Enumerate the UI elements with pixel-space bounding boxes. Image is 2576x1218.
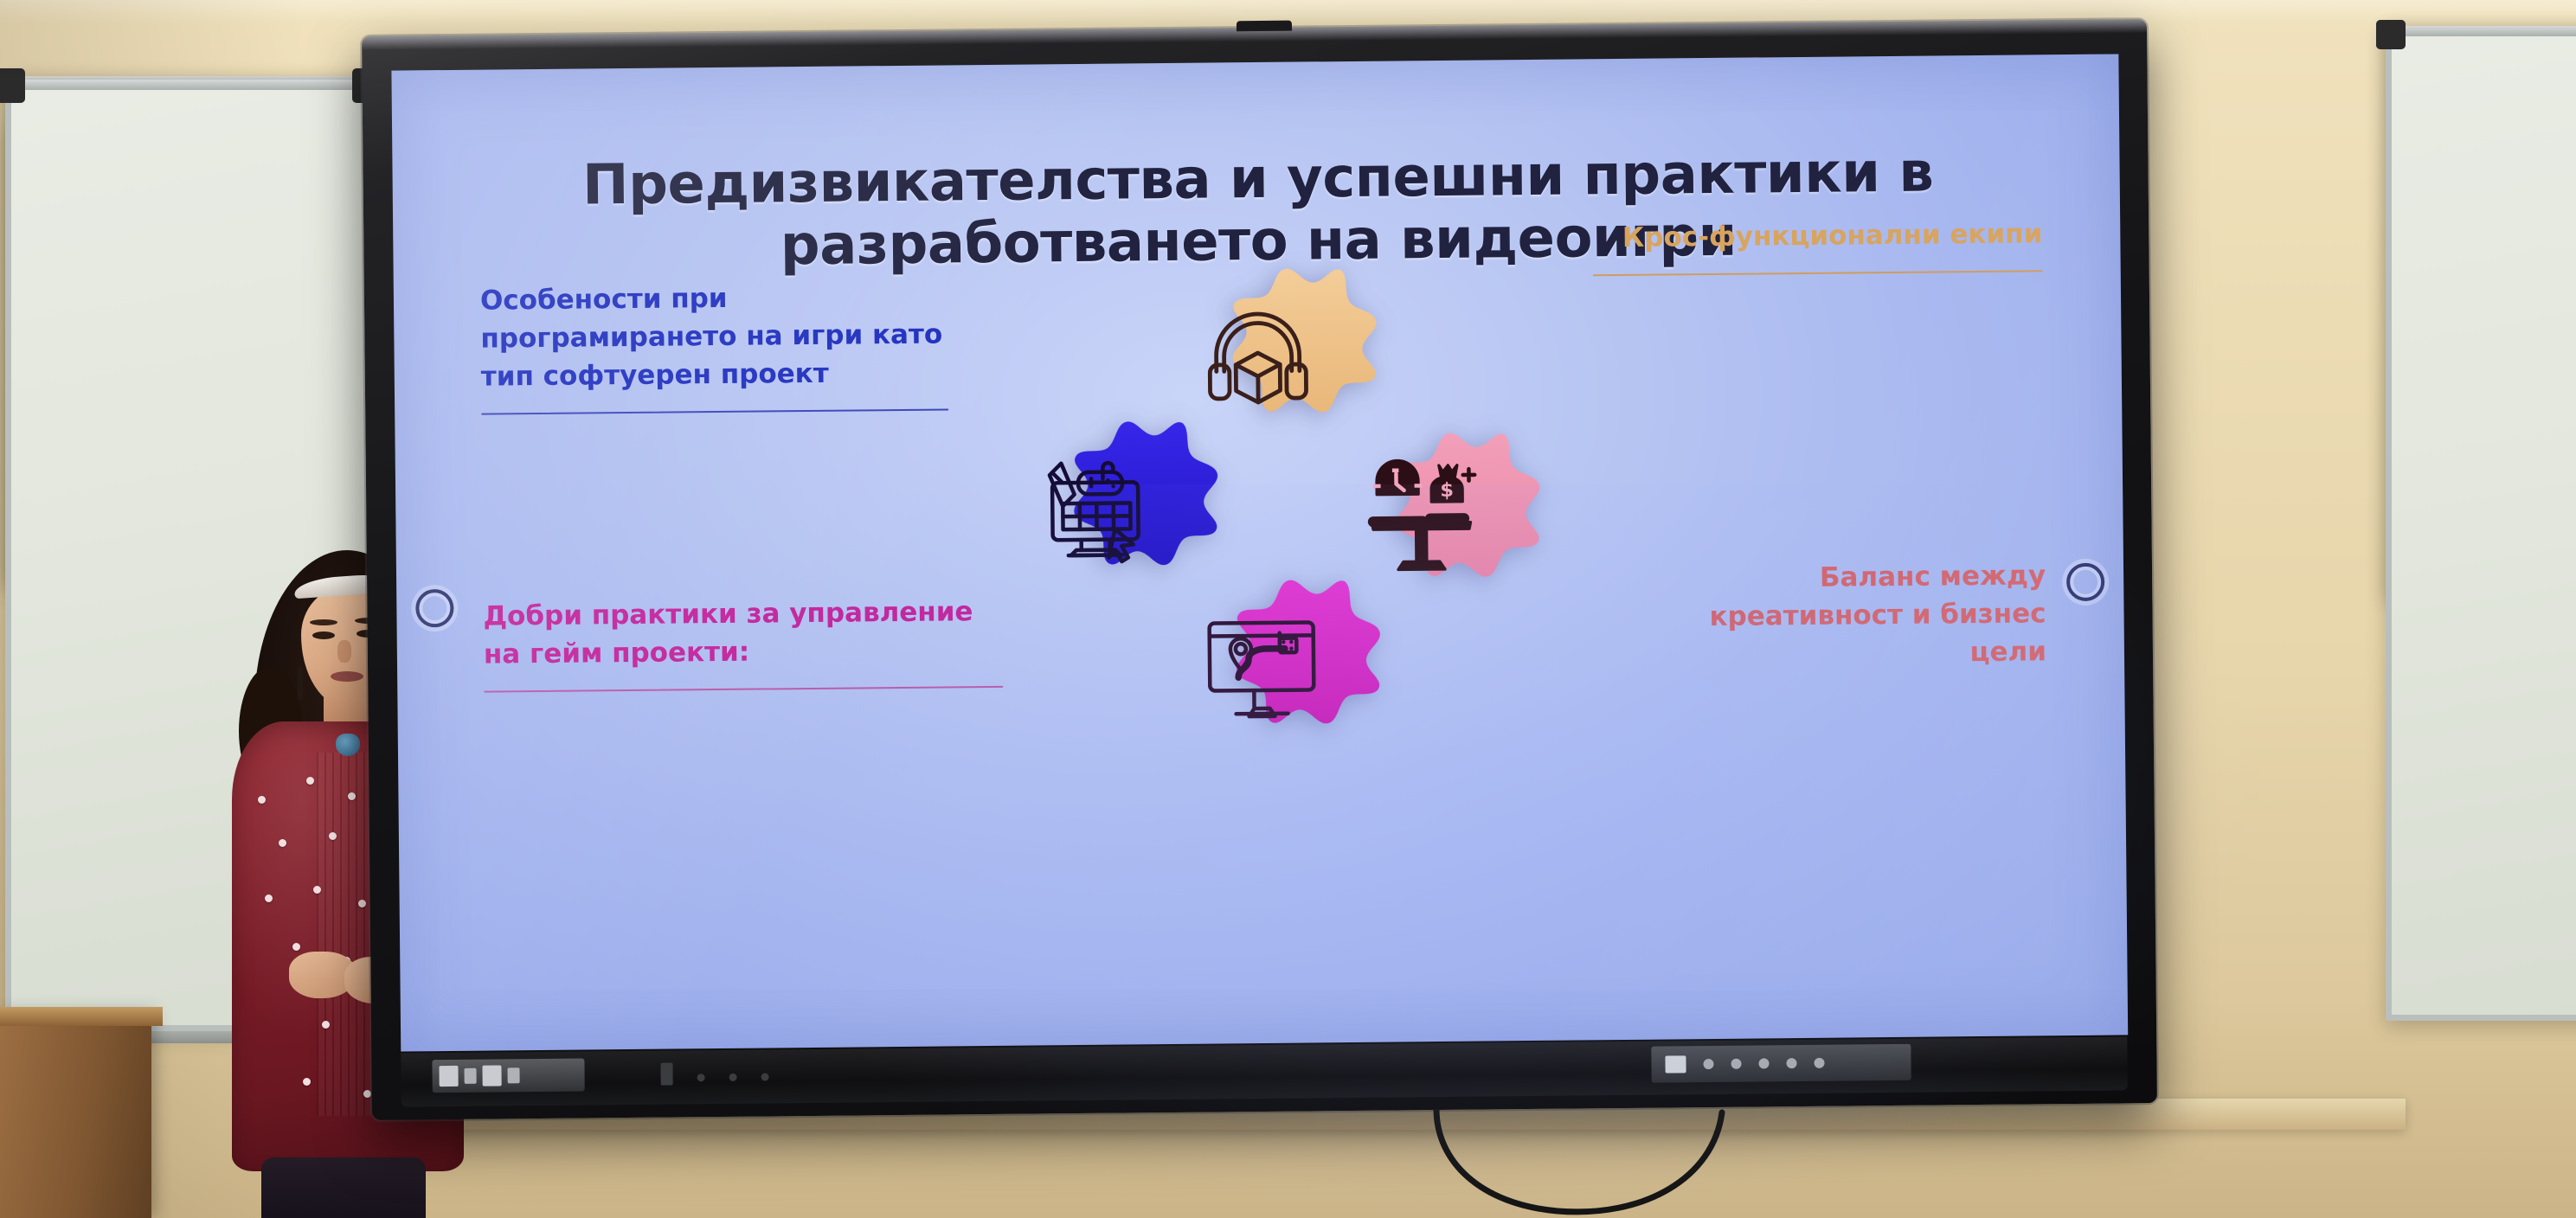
desk-top bbox=[0, 1007, 163, 1026]
port-panel[interactable] bbox=[432, 1059, 584, 1093]
indicator-dot-icon bbox=[729, 1074, 737, 1081]
whiteboard-right-main bbox=[2386, 26, 2576, 1021]
mouth bbox=[331, 671, 363, 682]
eye bbox=[312, 631, 335, 639]
ring-icon bbox=[2066, 563, 2104, 601]
label-text-bottom-right: Баланс между креативност и бизнес цели bbox=[1648, 556, 2046, 674]
power-key-icon[interactable] bbox=[660, 1063, 672, 1086]
hdmi-port-icon[interactable] bbox=[482, 1065, 501, 1086]
power-button[interactable] bbox=[1665, 1055, 1686, 1073]
aux-port-icon[interactable] bbox=[507, 1067, 519, 1083]
label-block-top-right: Крос-функционални екипи bbox=[1592, 215, 2043, 276]
display-screen[interactable]: Предизвикателства и успешни практики в р… bbox=[391, 54, 2128, 1051]
whiteboard-corner-icon bbox=[2376, 20, 2406, 49]
label-text-top-left: Особености при програмирането на игри ка… bbox=[480, 277, 948, 395]
blob-cluster: $ bbox=[958, 223, 1561, 826]
slide: Предизвикателства и успешни практики в р… bbox=[391, 54, 2128, 1051]
volume-down-button[interactable] bbox=[1731, 1059, 1741, 1069]
whiteboard-corner-icon bbox=[0, 74, 25, 103]
label-block-top-left: Особености при програмирането на игри ка… bbox=[480, 277, 948, 414]
classroom-scene: Предизвикателства и успешни практики в р… bbox=[0, 0, 2576, 1218]
svg-text:$: $ bbox=[1440, 479, 1454, 502]
label-block-bottom-left: Добри практики за управление на гейм про… bbox=[483, 593, 1003, 693]
eyebrow bbox=[310, 619, 337, 625]
ceiling-edge bbox=[0, 0, 2576, 22]
usb-port-icon[interactable] bbox=[464, 1068, 476, 1084]
nose bbox=[337, 640, 351, 663]
label-rule bbox=[1593, 270, 2043, 276]
button-panel[interactable] bbox=[1651, 1044, 1911, 1083]
lock-button[interactable] bbox=[1814, 1058, 1824, 1068]
source-button[interactable] bbox=[1786, 1058, 1796, 1068]
trousers bbox=[261, 1157, 426, 1218]
label-text-top-right: Крос-функционални екипи bbox=[1592, 215, 2042, 257]
roadmap-monitor-icon bbox=[1196, 601, 1327, 732]
ring-icon bbox=[415, 589, 453, 627]
usb-port-icon[interactable] bbox=[439, 1066, 458, 1087]
game-design-monitor-icon bbox=[1034, 443, 1165, 574]
control-markings bbox=[660, 1061, 768, 1085]
label-rule bbox=[484, 686, 1003, 693]
necklace bbox=[336, 734, 360, 756]
camera-nub-icon bbox=[1237, 21, 1292, 32]
label-text-bottom-left: Добри практики за управление на гейм про… bbox=[483, 593, 1003, 674]
indicator-dot-icon bbox=[761, 1073, 769, 1080]
indicator-dot-icon bbox=[697, 1074, 705, 1081]
interactive-display[interactable]: Предизвикателства и успешни практики в р… bbox=[362, 19, 2157, 1120]
volume-up-button[interactable] bbox=[1758, 1058, 1769, 1068]
earring bbox=[298, 666, 303, 701]
balance-scale-time-money-icon: $ bbox=[1356, 454, 1487, 585]
label-rule bbox=[481, 408, 948, 414]
desk bbox=[0, 1012, 151, 1218]
label-block-bottom-right: Баланс между креативност и бизнес цели bbox=[1648, 556, 2046, 674]
blob-bottom[interactable] bbox=[1131, 536, 1393, 798]
menu-button[interactable] bbox=[1703, 1059, 1713, 1069]
headphones-cube-icon bbox=[1192, 290, 1323, 420]
